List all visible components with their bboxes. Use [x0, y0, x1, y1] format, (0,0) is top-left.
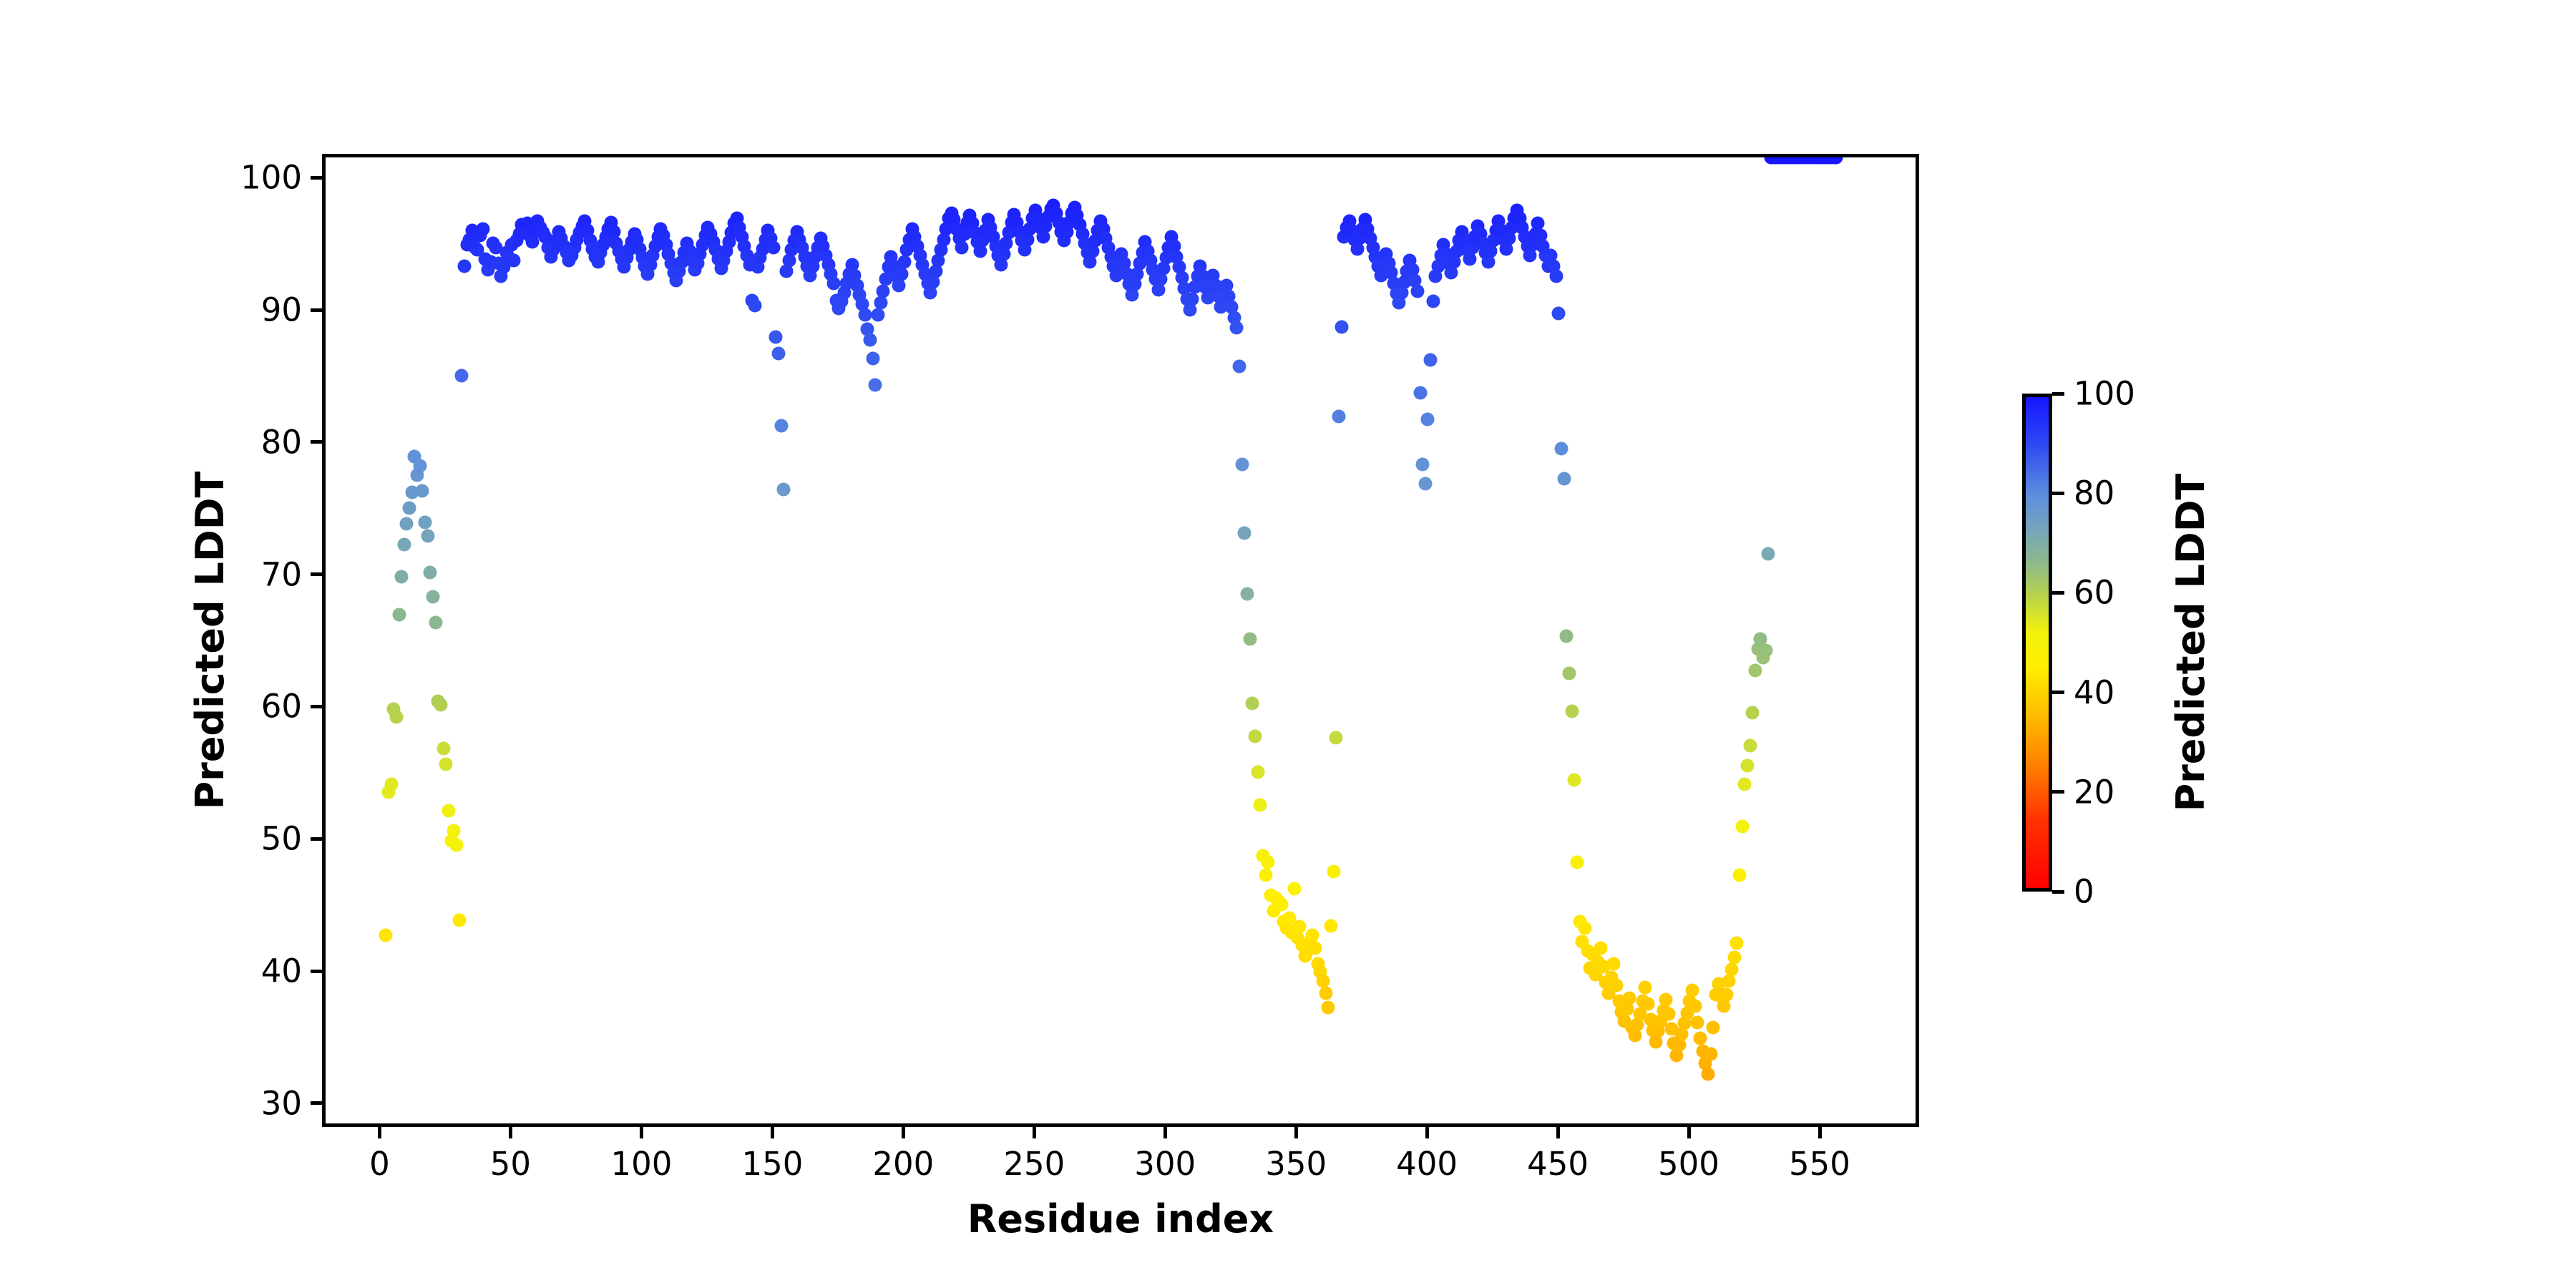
scatter-point — [403, 501, 416, 514]
y-tick-mark — [311, 308, 322, 312]
scatter-point — [1759, 644, 1772, 658]
scatter-point — [1740, 759, 1754, 773]
scatter-point — [1707, 1020, 1720, 1034]
colorbar-label: Predicted LDDT — [2168, 394, 2213, 892]
scatter-point — [1324, 919, 1338, 932]
scatter-point — [1727, 950, 1741, 964]
x-tick-label: 50 — [490, 1145, 531, 1183]
scatter-point — [1330, 731, 1343, 745]
scatter-point — [1416, 457, 1430, 471]
y-tick-mark — [311, 440, 322, 444]
x-tick-label: 500 — [1658, 1145, 1719, 1183]
scatter-point — [1335, 320, 1348, 333]
scatter-point — [1724, 962, 1738, 976]
scatter-point — [442, 804, 456, 817]
scatter-point — [1762, 547, 1775, 561]
y-tick-label: 30 — [261, 1084, 302, 1122]
scatter-point — [1418, 477, 1432, 491]
scatter-point — [872, 308, 885, 321]
scatter-point — [895, 267, 909, 280]
scatter-point — [1662, 1008, 1676, 1021]
x-tick-label: 550 — [1789, 1145, 1850, 1183]
scatter-point — [384, 777, 398, 791]
scatter-point — [777, 482, 791, 496]
scatter-point — [455, 369, 469, 382]
scatter-point — [1717, 1000, 1730, 1013]
scatter-point — [457, 259, 471, 273]
scatter-point — [955, 240, 969, 254]
scatter-point — [1639, 981, 1652, 995]
figure-canvas: Predicted LDDT 30405060708090100 0501001… — [0, 0, 2576, 1288]
scatter-point — [1246, 697, 1259, 711]
y-tick-mark — [311, 705, 322, 708]
scatter-point — [1230, 321, 1244, 335]
scatter-point — [1293, 920, 1307, 934]
scatter-point — [416, 484, 429, 497]
scatter-point — [1694, 1031, 1707, 1045]
scatter-point — [1579, 922, 1592, 935]
scatter-point — [419, 516, 432, 530]
colorbar-tick-label: 80 — [2074, 474, 2114, 512]
scatter-point — [1243, 632, 1257, 645]
y-tick-mark — [311, 1101, 322, 1105]
scatter-point — [392, 608, 406, 622]
scatter-point — [1410, 284, 1424, 298]
x-tick-mark — [1556, 1127, 1560, 1138]
x-tick-label: 150 — [741, 1145, 803, 1183]
scatter-point — [866, 351, 879, 365]
scatter-point — [1249, 730, 1262, 743]
scatter-point — [1552, 307, 1566, 321]
scatter-point — [1623, 992, 1636, 1005]
x-tick-mark — [378, 1127, 381, 1138]
scatter-point — [413, 459, 426, 472]
scatter-point — [1704, 1047, 1717, 1060]
colorbar-gradient — [2022, 394, 2052, 892]
x-tick-label: 250 — [1003, 1145, 1065, 1183]
scatter-point — [1735, 820, 1749, 834]
colorbar-tick-mark — [2052, 890, 2064, 894]
scatter-point — [1309, 942, 1322, 955]
y-tick-label: 90 — [261, 291, 302, 329]
scatter-point — [874, 296, 887, 310]
scatter-point — [1424, 353, 1438, 366]
scatter-point — [1743, 739, 1757, 753]
scatter-point — [1659, 993, 1673, 1007]
x-tick-mark — [1163, 1127, 1167, 1138]
scatter-point — [1688, 1000, 1702, 1013]
scatter-point — [389, 710, 403, 723]
scatter-point — [897, 255, 911, 269]
scatter-point — [1691, 1015, 1704, 1029]
scatter-point — [1571, 855, 1584, 869]
scatter-point — [429, 616, 442, 630]
scatter-point — [476, 222, 489, 235]
scatter-point — [766, 240, 780, 254]
y-tick-mark — [311, 970, 322, 973]
scatter-point — [1560, 629, 1574, 643]
colorbar-tick-mark — [2052, 691, 2064, 694]
scatter-point — [424, 566, 437, 580]
scatter-point — [774, 419, 788, 433]
scatter-point — [1594, 942, 1607, 955]
scatter-point — [1686, 984, 1699, 997]
x-tick-label: 100 — [610, 1145, 672, 1183]
scatter-point — [769, 331, 783, 344]
y-tick-mark — [311, 837, 322, 841]
scatter-point — [1251, 766, 1264, 779]
scatter-point — [1259, 869, 1272, 882]
scatter-point — [447, 824, 461, 837]
scatter-point — [1555, 441, 1568, 455]
y-tick-label: 40 — [261, 952, 302, 990]
colorbar-tick-mark — [2052, 492, 2064, 495]
scatter-point — [397, 538, 411, 552]
scatter-point — [1565, 705, 1579, 718]
scatter-point — [892, 279, 906, 293]
scatter-point — [1568, 774, 1581, 787]
colorbar — [2022, 394, 2052, 892]
scatter-point — [436, 742, 450, 756]
x-tick-mark — [902, 1127, 905, 1138]
colorbar-tick-label: 0 — [2074, 873, 2094, 911]
scatter-point — [395, 570, 409, 583]
scatter-point — [1238, 526, 1252, 540]
scatter-point — [1327, 864, 1340, 878]
y-tick-label: 60 — [261, 688, 302, 726]
scatter-point — [1413, 386, 1427, 399]
x-tick-mark — [1033, 1127, 1036, 1138]
scatter-point — [1609, 978, 1623, 992]
scatter-point — [1463, 253, 1477, 266]
scatter-point — [1748, 664, 1762, 678]
scatter-point — [1738, 777, 1752, 791]
scatter-point — [1241, 587, 1254, 600]
x-axis-label: Residue index — [322, 1196, 1919, 1241]
scatter-point — [1702, 1067, 1715, 1080]
y-tick-label: 80 — [261, 423, 302, 461]
scatter-point — [507, 254, 521, 268]
scatter-point — [1563, 666, 1576, 680]
x-tick-mark — [1425, 1127, 1429, 1138]
scatter-point — [1233, 360, 1246, 374]
scatter-point — [1274, 898, 1288, 912]
scatter-point — [1319, 986, 1332, 1000]
colorbar-tick-mark — [2052, 591, 2064, 595]
scatter-point — [1254, 799, 1267, 812]
colorbar-tick-mark — [2052, 790, 2064, 794]
colorbar-tick-mark — [2052, 392, 2064, 396]
scatter-point — [772, 346, 786, 360]
x-tick-label: 200 — [872, 1145, 934, 1183]
scatter-point — [858, 308, 872, 321]
x-tick-label: 300 — [1134, 1145, 1196, 1183]
y-tick-mark — [311, 176, 322, 180]
scatter-point — [1287, 882, 1301, 895]
scatter-point — [400, 517, 414, 530]
colorbar-tick-label: 60 — [2074, 574, 2114, 612]
scatter-point — [1332, 410, 1346, 424]
y-tick-label: 70 — [261, 555, 302, 593]
scatter-point — [1641, 997, 1654, 1010]
x-tick-mark — [1687, 1127, 1691, 1138]
scatter-point — [1306, 928, 1319, 942]
scatter-point — [1746, 706, 1760, 720]
y-axis-label: Predicted LDDT — [187, 154, 233, 1127]
scatter-point — [1186, 292, 1199, 306]
scatter-point — [1719, 987, 1733, 1001]
scatter-point — [1322, 1001, 1335, 1015]
scatter-point — [452, 914, 466, 927]
y-tick-mark — [311, 572, 322, 576]
scatter-point — [877, 284, 890, 298]
scatter-point — [1607, 957, 1621, 971]
y-tick-label: 50 — [261, 820, 302, 858]
scatter-point — [869, 378, 882, 391]
scatter-point — [439, 758, 453, 771]
x-tick-label: 0 — [369, 1145, 390, 1183]
scatter-point — [379, 928, 393, 942]
x-tick-mark — [771, 1127, 774, 1138]
x-tick-mark — [1818, 1127, 1822, 1138]
colorbar-tick-label: 20 — [2074, 773, 2114, 811]
scatter-point — [1421, 412, 1435, 426]
colorbar-tick-label: 100 — [2074, 375, 2135, 413]
scatter-point — [864, 333, 877, 347]
scatter-point — [1557, 472, 1571, 486]
x-tick-label: 350 — [1265, 1145, 1327, 1183]
colorbar-tick-label: 40 — [2074, 673, 2114, 711]
x-tick-label: 450 — [1527, 1145, 1589, 1183]
scatter-point — [1549, 270, 1563, 283]
scatter-point — [426, 590, 440, 603]
scatter-point — [1426, 295, 1440, 308]
plot-area — [322, 154, 1919, 1127]
scatter-point — [748, 299, 762, 313]
x-tick-mark — [509, 1127, 512, 1138]
y-tick-label: 100 — [240, 159, 302, 197]
scatter-point — [1262, 855, 1275, 869]
scatter-point — [450, 838, 464, 852]
x-tick-label: 400 — [1396, 1145, 1458, 1183]
scatter-point — [1730, 936, 1744, 950]
scatter-point — [421, 529, 434, 542]
scatter-points-layer — [326, 157, 1916, 1123]
x-tick-mark — [1294, 1127, 1298, 1138]
scatter-point — [1722, 975, 1736, 988]
scatter-point — [1732, 869, 1746, 882]
x-tick-mark — [640, 1127, 643, 1138]
scatter-point — [1235, 457, 1249, 471]
scatter-point — [434, 698, 448, 712]
